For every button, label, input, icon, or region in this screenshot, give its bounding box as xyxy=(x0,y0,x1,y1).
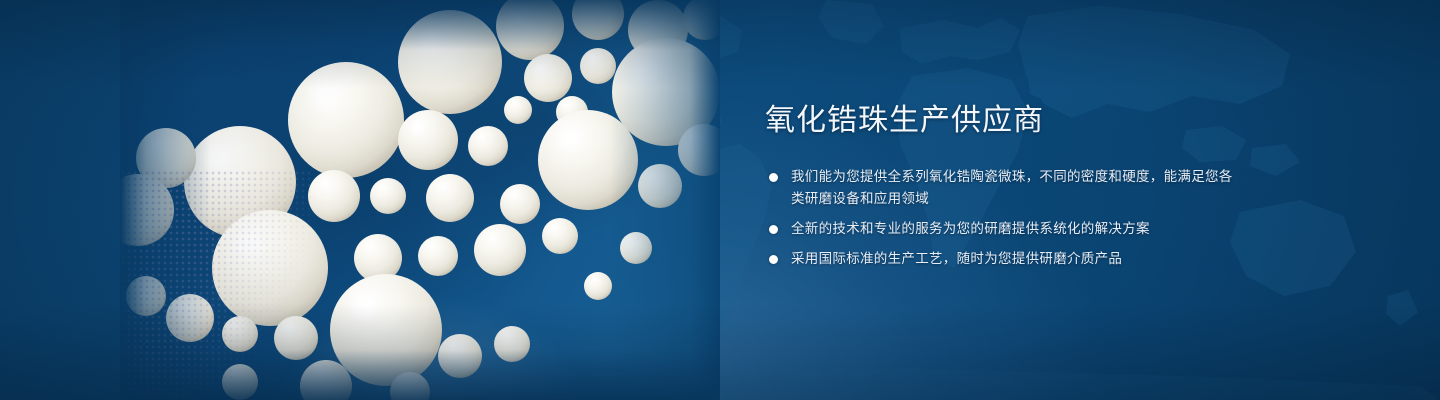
banner-feature-list: 我们能为您提供全系列氧化锆陶瓷微珠，不同的密度和硬度，能满足您各类研磨设备和应用… xyxy=(765,166,1235,270)
bullet-dot-icon xyxy=(769,255,778,264)
list-item: 采用国际标准的生产工艺，随时为您提供研磨介质产品 xyxy=(765,248,1235,270)
list-item-label: 采用国际标准的生产工艺，随时为您提供研磨介质产品 xyxy=(791,248,1235,270)
hero-banner: 氧化锆珠生产供应商 我们能为您提供全系列氧化锆陶瓷微珠，不同的密度和硬度，能满足… xyxy=(0,0,1440,400)
list-item: 我们能为您提供全系列氧化锆陶瓷微珠，不同的密度和硬度，能满足您各类研磨设备和应用… xyxy=(765,166,1235,210)
list-item-label: 我们能为您提供全系列氧化锆陶瓷微珠，不同的密度和硬度，能满足您各类研磨设备和应用… xyxy=(791,166,1235,210)
bullet-dot-icon xyxy=(769,225,778,234)
list-item: 全新的技术和专业的服务为您的研磨提供系统化的解决方案 xyxy=(765,218,1235,240)
bullet-dot-icon xyxy=(769,173,778,182)
beads-illustration xyxy=(120,0,720,400)
banner-copy: 氧化锆珠生产供应商 我们能为您提供全系列氧化锆陶瓷微珠，不同的密度和硬度，能满足… xyxy=(765,104,1235,270)
list-item-label: 全新的技术和专业的服务为您的研磨提供系统化的解决方案 xyxy=(791,218,1235,240)
zirconia-beads-photo xyxy=(120,0,720,400)
banner-headline: 氧化锆珠生产供应商 xyxy=(765,104,1235,138)
